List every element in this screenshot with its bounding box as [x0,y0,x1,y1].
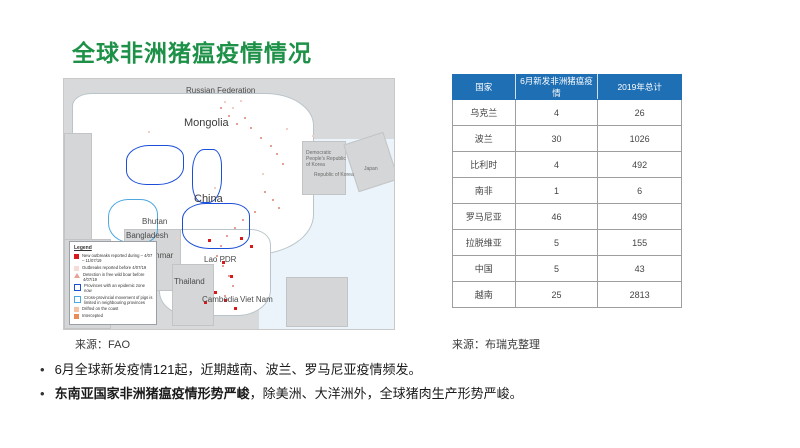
wild-boar-detection-marker [254,211,256,213]
cell-total: 2813 [598,282,682,308]
map-label-bhutan: Bhutan [142,217,167,226]
cell-june: 4 [515,152,598,178]
wild-boar-detection-marker [226,235,228,237]
legend-item-label: Intercepted [82,313,103,318]
map-outbreak-marker [176,237,178,239]
table-row: 中国 5 43 [453,256,682,282]
cell-country: 罗马尼亚 [453,204,516,230]
wild-boar-detection-marker [232,285,234,287]
page-title: 全球非洲猪瘟疫情情况 [72,34,312,68]
bullet-list: • 6月全球新发疫情121起，近期越南、波兰、罗马尼亚疫情频发。 • 东南亚国家… [40,362,760,410]
cell-total: 43 [598,256,682,282]
map-label-dprk: Democratic People's Republic of Korea [306,151,346,168]
bullet-text: 6月全球新发疫情121起，近期越南、波兰、罗马尼亚疫情频发。 [55,362,422,378]
wild-boar-detection-marker [260,137,262,139]
cell-june: 30 [515,126,598,152]
new-outbreak-marker [214,291,217,294]
map-outbreak-marker [240,100,242,102]
wild-boar-detection-marker [278,207,280,209]
map-outbreak-marker [312,135,314,137]
legend-red-square-icon [74,254,79,259]
wild-boar-detection-marker [276,153,278,155]
legend-item-label: Detection in free wild boar before 4/07/… [83,272,153,283]
epidemic-zone-tibet [126,145,184,185]
table-header-row: 国家 6月新发非洲猪瘟疫情 2019年总计 [453,75,682,100]
map-label-republic-of-korea: Republic of Korea [314,173,354,179]
bullet-item: • 6月全球新发疫情121起，近期越南、波兰、罗马尼亚疫情频发。 [40,362,760,378]
legend-pink-triangle-icon [74,273,80,278]
slide-canvas: 全球非洲猪瘟疫情情况 [0,0,800,448]
map-outbreak-marker [224,101,226,103]
wild-boar-detection-marker [242,219,244,221]
wild-boar-detection-marker [236,123,238,125]
bullet-item: • 东南亚国家非洲猪瘟疫情形势严峻，除美洲、大洋洲外，全球猪肉生产形势严峻。 [40,386,760,402]
legend-item-label: New outbreaks reported during – 4/07 – 1… [82,253,153,264]
legend-item-prior-outbreaks: Outbreaks reported before 4/07/19 [74,265,153,271]
table-row: 波兰 30 1026 [453,126,682,152]
map-outbreak-marker [214,187,216,189]
bullet-marker: • [40,386,45,402]
legend-blue-outline-box-icon [74,284,81,291]
table-row: 罗马尼亚 46 499 [453,204,682,230]
cell-total: 499 [598,204,682,230]
legend-peach-square-icon [74,307,79,312]
cell-june: 5 [515,256,598,282]
bullet-body: 6月全球新发疫情121起，近期越南、波兰、罗马尼亚疫情频发。 [55,362,422,377]
cell-country: 越南 [453,282,516,308]
cell-country: 拉脱维亚 [453,230,516,256]
cell-june: 5 [515,230,598,256]
wild-boar-detection-marker [250,127,252,129]
map-label-viet-nam: Viet Nam [240,295,273,304]
legend-item-epidemic-zone: Provinces with an epidemic zone now [74,283,153,294]
map-land-west [64,133,92,245]
cell-june: 1 [515,178,598,204]
new-outbreak-marker [208,239,211,242]
legend-item-label: Outbreaks reported before 4/07/19 [82,265,146,270]
map-label-mongolia: Mongolia [184,117,229,129]
map-outbreak-marker [148,131,150,133]
cell-country: 中国 [453,256,516,282]
map-canvas: Russian Federation Mongolia China Bhutan… [64,79,394,329]
map-legend-title: Legend [74,245,153,251]
map-source-caption: 来源：FAO [75,336,130,352]
epidemic-zone-south [182,203,250,249]
wild-boar-detection-marker [282,163,284,165]
bullet-body: ，除美洲、大洋洲外，全球猪肉生产形势严峻。 [250,386,523,401]
cell-total: 1026 [598,126,682,152]
map-outbreak-marker [262,173,264,175]
epidemic-table: 国家 6月新发非洲猪瘟疫情 2019年总计 乌克兰 4 26 波兰 30 102… [452,74,682,308]
cell-country: 乌克兰 [453,100,516,126]
legend-item-movement-limited: Cross-provincial movement of pigs is lim… [74,295,153,306]
legend-light-blue-outline-box-icon [74,296,81,303]
bullet-marker: • [40,362,45,378]
wild-boar-detection-marker [244,117,246,119]
map-label-cambodia: Cambodia [202,295,238,304]
bullet-text: 东南亚国家非洲猪瘟疫情形势严峻，除美洲、大洋洲外，全球猪肉生产形势严峻。 [55,386,523,402]
cell-country: 南非 [453,178,516,204]
map-outbreak-marker [232,107,234,109]
legend-item-label: Provinces with an epidemic zone now [84,283,153,294]
map-label-lao-pdr: Lao PDR [204,255,236,264]
column-header-june-new-cases: 6月新发非洲猪瘟疫情 [515,75,598,100]
table-body: 乌克兰 4 26 波兰 30 1026 比利时 4 492 南非 1 6 罗马尼… [453,100,682,308]
cell-june: 25 [515,282,598,308]
map-land-philippines [286,277,348,327]
wild-boar-detection-marker [272,199,274,201]
new-outbreak-marker [250,245,253,248]
wild-boar-detection-marker [234,227,236,229]
table-row: 越南 25 2813 [453,282,682,308]
map-label-bangladesh: Bangladesh [126,231,168,240]
legend-item-wild-boar: Detection in free wild boar before 4/07/… [74,272,153,283]
table-row: 乌克兰 4 26 [453,100,682,126]
bullet-bold-prefix: 东南亚国家非洲猪瘟疫情形势严峻 [55,386,250,401]
map-outbreak-marker [286,128,288,130]
wild-boar-detection-marker [264,191,266,193]
new-outbreak-marker [230,275,233,278]
new-outbreak-marker [240,237,243,240]
cell-total: 492 [598,152,682,178]
wild-boar-detection-marker [220,107,222,109]
column-header-country: 国家 [453,75,516,100]
new-outbreak-marker [234,307,237,310]
map-label-russian-federation: Russian Federation [186,86,255,95]
wild-boar-detection-marker [222,265,224,267]
table-source-caption: 来源：布瑞克整理 [452,336,540,352]
legend-item-label: Drifted on the coast [82,306,118,311]
cell-total: 6 [598,178,682,204]
map-label-thailand: Thailand [174,277,205,286]
wild-boar-detection-marker [220,245,222,247]
column-header-2019-total: 2019年总计 [598,75,682,100]
cell-total: 155 [598,230,682,256]
cell-june: 4 [515,100,598,126]
table-row: 拉脱维亚 5 155 [453,230,682,256]
legend-item-new-outbreaks: New outbreaks reported during – 4/07 – 1… [74,253,153,264]
cell-country: 波兰 [453,126,516,152]
legend-pale-square-icon [74,266,79,271]
map-image: Russian Federation Mongolia China Bhutan… [63,78,395,330]
legend-orange-square-icon [74,314,79,319]
map-label-china: China [194,193,223,205]
table-row: 南非 1 6 [453,178,682,204]
map-label-japan: Japan [364,167,378,173]
map-legend: Legend New outbreaks reported during – 4… [69,241,157,325]
cell-country: 比利时 [453,152,516,178]
cell-total: 26 [598,100,682,126]
legend-item-intercepted: Intercepted [74,313,153,319]
legend-item-drifted-coast: Drifted on the coast [74,306,153,312]
legend-item-label: Cross-provincial movement of pigs is lim… [84,295,153,306]
wild-boar-detection-marker [270,145,272,147]
table-row: 比利时 4 492 [453,152,682,178]
cell-june: 46 [515,204,598,230]
